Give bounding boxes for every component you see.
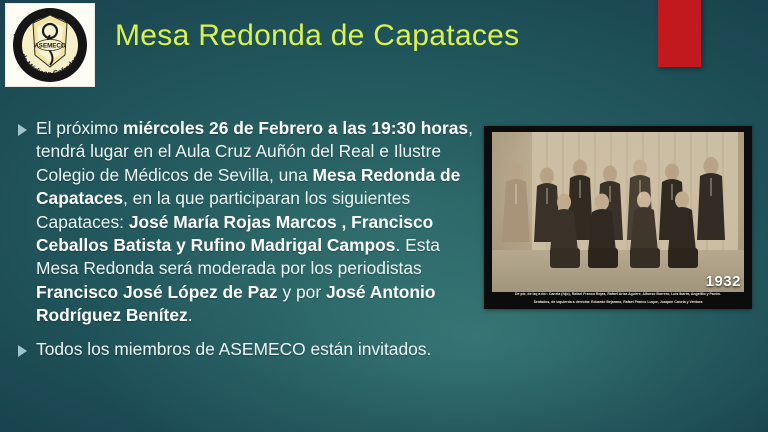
text-run: y por xyxy=(278,282,326,302)
bold-text-run: Francisco José López de Paz xyxy=(36,282,278,302)
text-run: . xyxy=(188,305,193,325)
text-run: El próximo xyxy=(36,118,123,138)
triangle-bullet-icon xyxy=(18,345,27,357)
text-run: Todos los miembros de ASEMECO están invi… xyxy=(36,339,431,359)
red-accent-bar xyxy=(658,0,701,67)
asemeco-emblem-icon: ASEMECO Asociación Sevillana de Médicos … xyxy=(7,5,93,85)
photo-image: 1932 xyxy=(492,132,744,292)
bullet-paragraph-2: Todos los miembros de ASEMECO están invi… xyxy=(36,338,431,361)
svg-text:ASEMECO: ASEMECO xyxy=(34,43,65,50)
presentation-slide: ASEMECO Asociación Sevillana de Médicos … xyxy=(0,0,768,432)
triangle-bullet-icon xyxy=(18,124,27,136)
photo-year-label: 1932 xyxy=(706,273,741,290)
bullet-paragraph-1: El próximo miércoles 26 de Febrero a las… xyxy=(36,117,473,328)
photo-caption-line-1: De pie, de izq a der: Canela (hijo), Raf… xyxy=(486,292,750,297)
slide-body: El próximo miércoles 26 de Febrero a las… xyxy=(18,117,473,371)
historic-group-photo: 1932 De pie, de izq a der: Canela (hijo)… xyxy=(484,126,752,309)
slide-title: Mesa Redonda de Capataces xyxy=(115,19,519,53)
photo-caption-line-2: Sentados, de izquierda a derecha: Eduard… xyxy=(486,300,750,305)
bold-text-run: miércoles 26 de Febrero a las 19:30 hora… xyxy=(123,118,468,138)
list-item: El próximo miércoles 26 de Febrero a las… xyxy=(18,117,473,328)
list-item: Todos los miembros de ASEMECO están invi… xyxy=(18,338,473,361)
asemeco-logo: ASEMECO Asociación Sevillana de Médicos … xyxy=(5,3,95,87)
photo-figures xyxy=(492,132,744,292)
